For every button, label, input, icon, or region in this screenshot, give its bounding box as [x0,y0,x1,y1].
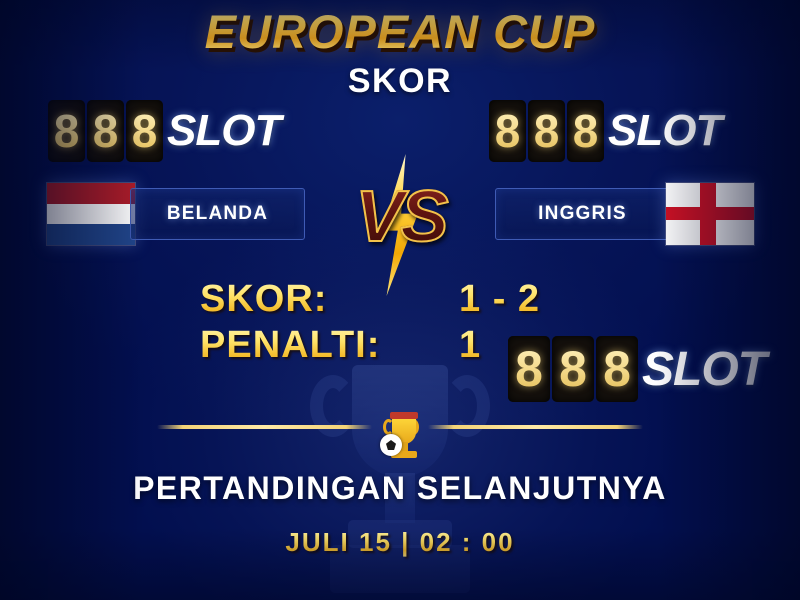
score-line: SKOR: 1 - 2 [0,278,800,324]
brand-digit: 8 [495,104,521,158]
brand-digit-tile: 8 [552,336,594,402]
brand-digit-tile: 8 [87,100,124,162]
home-team-box: BELANDA [130,188,305,240]
brand-digit: 8 [132,104,158,158]
flag-cross-horizontal [666,207,754,219]
next-match-heading: PERTANDINGAN SELANJUTNYA [0,470,800,507]
brand-digit: 8 [559,340,587,398]
england-flag-icon [665,182,755,246]
brand-digit-tiles: 8 8 8 [508,336,640,402]
brand-digit-tile: 8 [126,100,163,162]
brand-digit: 8 [603,340,631,398]
divider-rule-left [157,425,372,429]
brand-digit: 8 [515,340,543,398]
brand-digit-tiles: 8 8 8 [489,100,606,162]
brand-word: SLOT [167,106,280,156]
penalty-label: PENALTI: [200,324,380,367]
brand-digit: 8 [534,104,560,158]
brand-logo-top-left: 8 8 8 SLOT [48,100,280,162]
brand-digit-tile: 8 [528,100,565,162]
versus-badge: VS [338,158,463,293]
brand-digit: 8 [573,104,599,158]
netherlands-flag-icon [46,182,136,246]
away-team-name: INGGRIS [538,203,627,225]
penalty-value: 1 [459,324,481,367]
section-divider [0,418,800,458]
brand-digit-tiles: 8 8 8 [48,100,165,162]
brand-digit-tile: 8 [489,100,526,162]
trophy-football-icon [378,410,426,462]
brand-digit: 8 [93,104,119,158]
score-banner: EUROPEAN CUP SKOR 8 8 8 SLOT 8 8 8 SLOT … [0,0,800,600]
brand-digit-tile: 8 [48,100,85,162]
score-value: 1 - 2 [459,278,540,321]
away-team-box: INGGRIS [495,188,670,240]
flag-stripe-white [47,204,135,225]
page-subtitle: SKOR [0,62,800,101]
football-icon [380,434,402,456]
divider-rule-right [428,425,643,429]
score-label: SKOR: [200,278,327,321]
brand-digit-tile: 8 [567,100,604,162]
trophy-rim [390,412,418,419]
brand-digit: 8 [54,104,80,158]
brand-digit-tile: 8 [596,336,638,402]
brand-word: SLOT [642,342,766,397]
brand-digit-tile: 8 [508,336,550,402]
page-title: EUROPEAN CUP [0,4,800,59]
flag-stripe-blue [47,224,135,245]
brand-logo-bottom-right: 8 8 8 SLOT [508,336,766,402]
next-match-datetime: JULI 15 | 02 : 00 [0,527,800,558]
flag-stripe-red [47,183,135,204]
home-team-name: BELANDA [167,203,268,225]
brand-word: SLOT [608,106,721,156]
versus-label: VS [338,176,463,258]
brand-logo-top-right: 8 8 8 SLOT [489,100,721,162]
